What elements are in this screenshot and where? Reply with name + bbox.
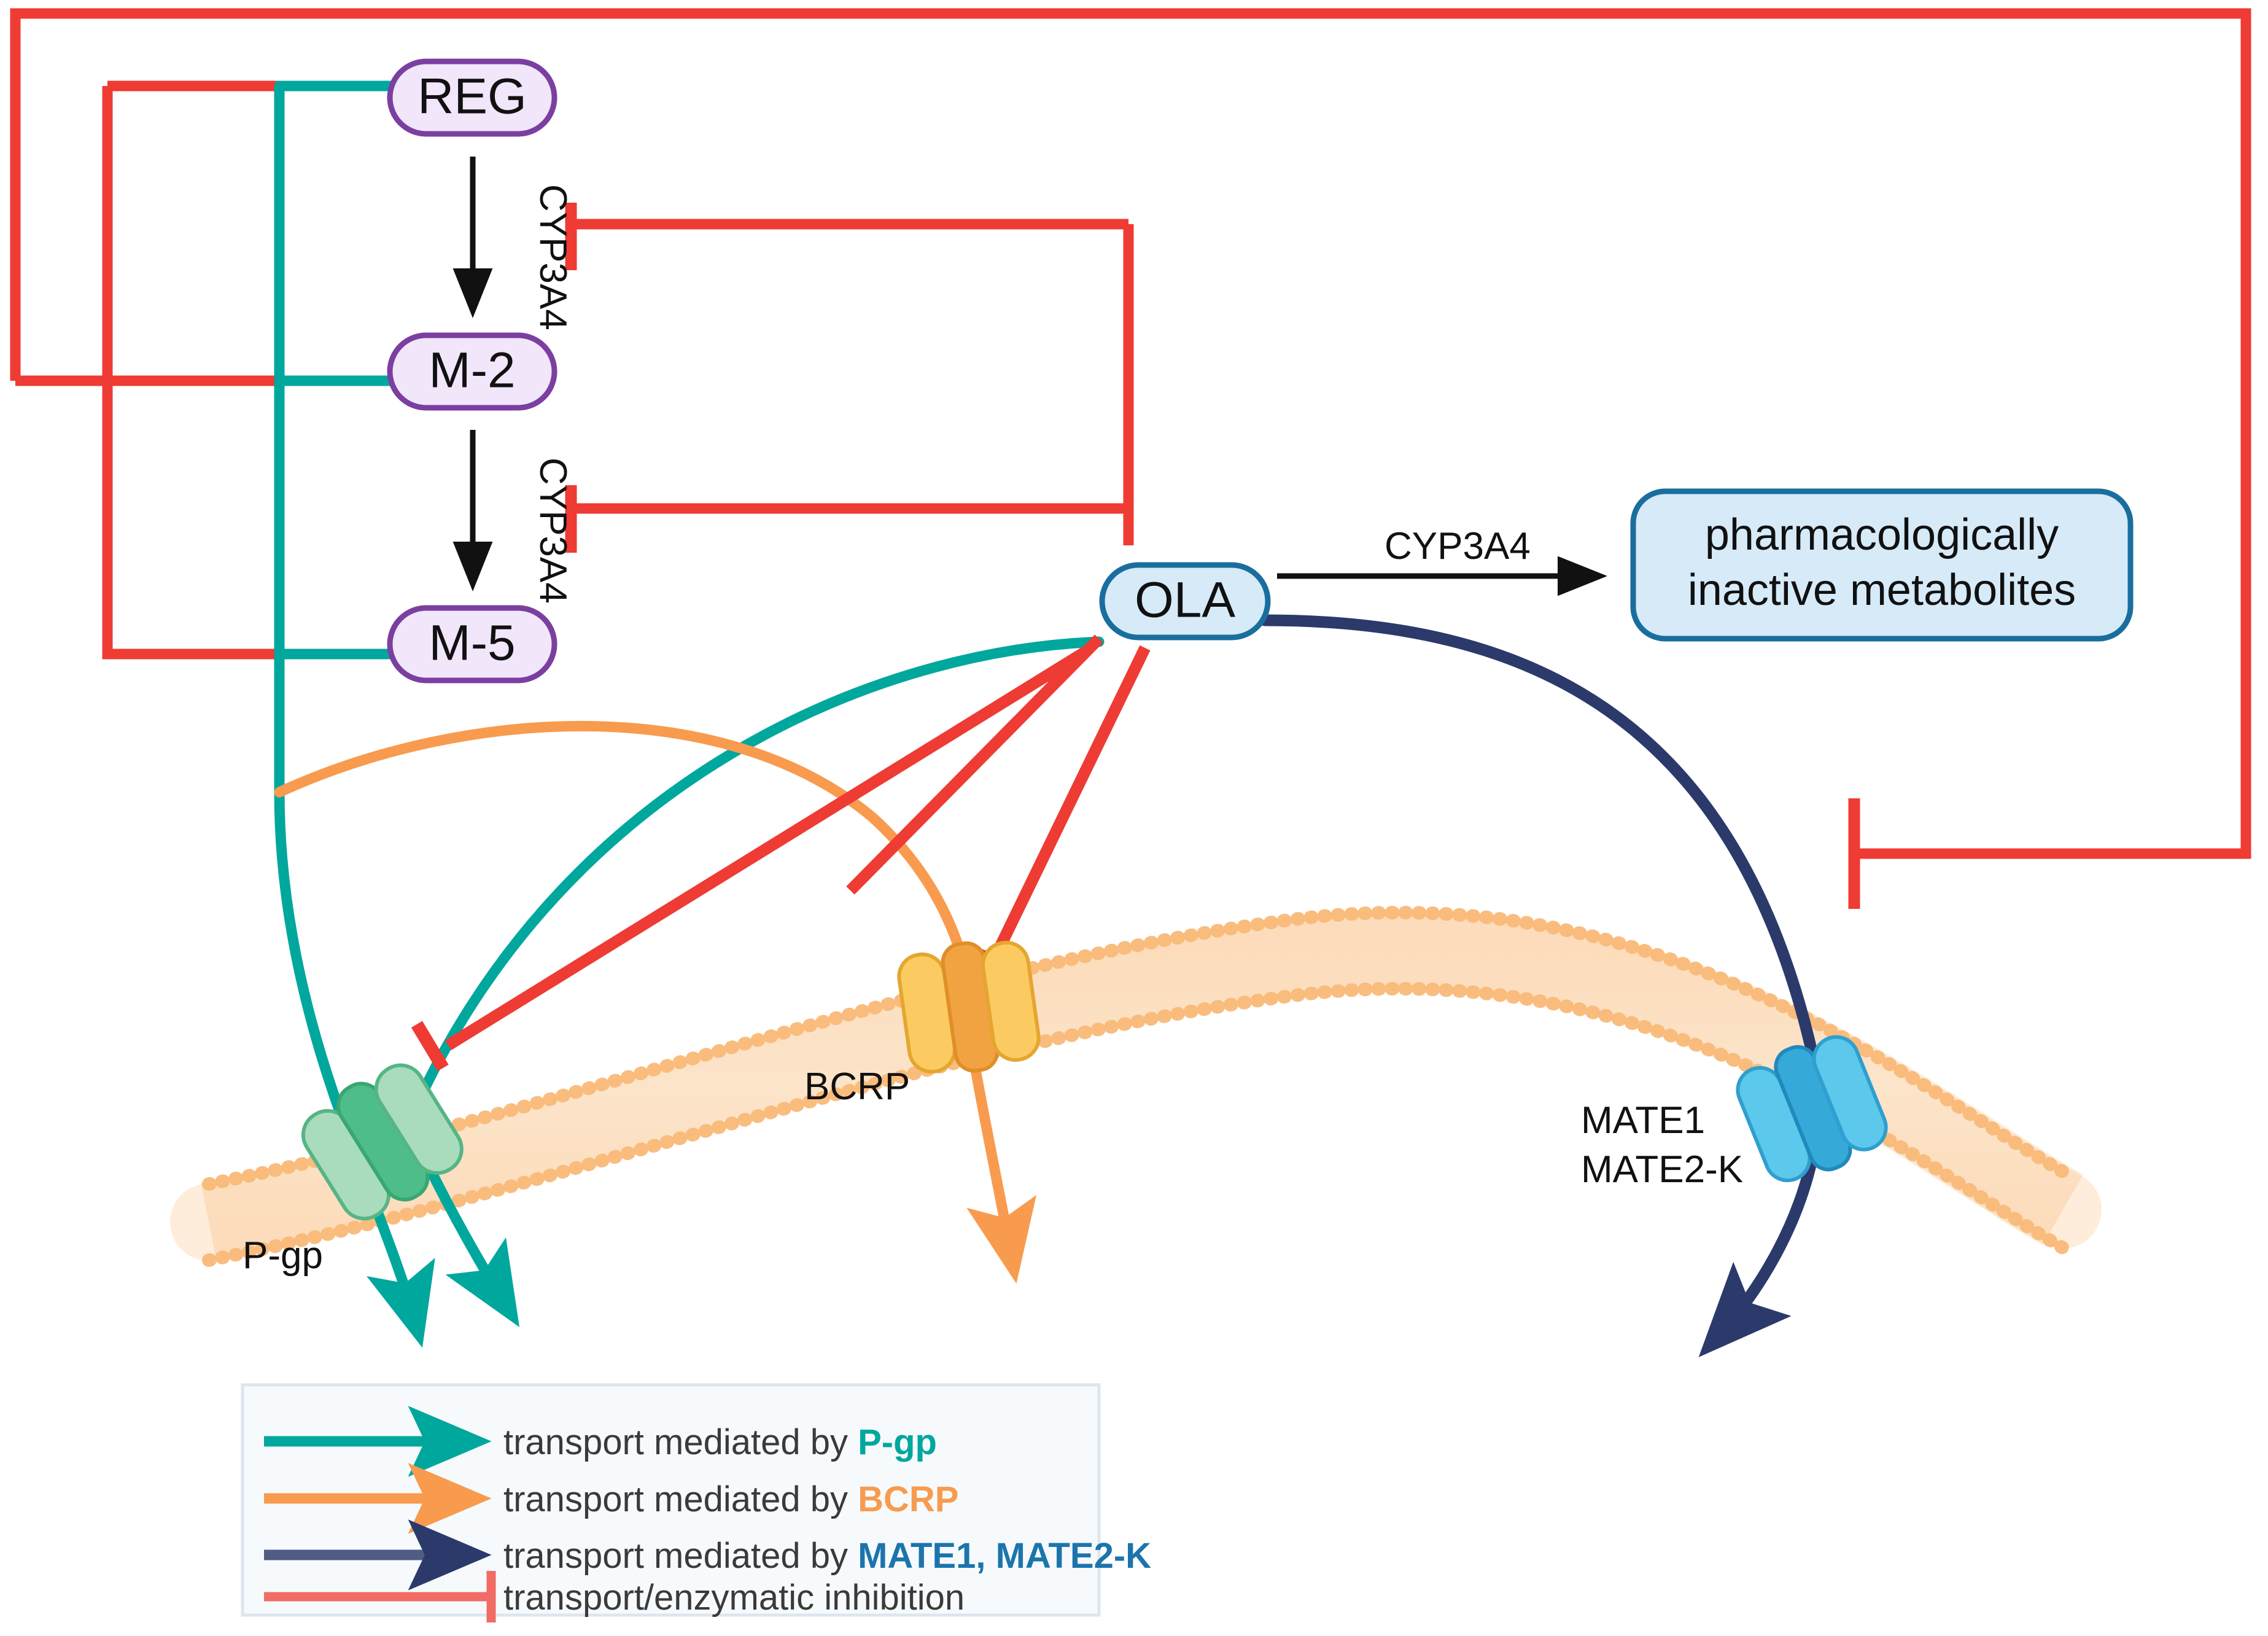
label-bcrp: BCRP [804, 1065, 910, 1108]
diagram-canvas: REG M-2 M-5 OLA pharmacologically inacti… [0, 0, 2268, 1636]
inhibition-cyp3a4-block [571, 203, 1128, 553]
pgp-trunk-to-transporter [279, 86, 359, 1164]
bcrp-transporter [896, 935, 1043, 1079]
node-m2-label: M-2 [429, 343, 515, 399]
node-m5[interactable]: M-5 [390, 608, 554, 680]
node-ola-label: OLA [1135, 572, 1235, 628]
label-p-gp: P-gp [243, 1234, 323, 1277]
enzyme-label-cyp3a4-ola: CYP3A4 [1384, 525, 1531, 567]
node-reg-label: REG [417, 69, 527, 125]
inhibition-path-middle [107, 86, 279, 654]
node-ola[interactable]: OLA [1102, 565, 1268, 637]
node-inactive-metabolites[interactable]: pharmacologically inactive metabolites [1633, 491, 2130, 639]
metabolites-label-line1: pharmacologically [1705, 510, 2059, 559]
legend: transport mediated by P-gp transport med… [243, 1385, 1151, 1622]
legend-label-mate: transport mediated by MATE1, MATE2-K [503, 1536, 1151, 1576]
metabolites-label-line2: inactive metabolites [1688, 566, 2076, 615]
node-m5-label: M-5 [429, 615, 515, 671]
node-m2[interactable]: M-2 [390, 335, 554, 408]
label-mate1: MATE1 [1581, 1099, 1705, 1142]
legend-label-pgp: transport mediated by P-gp [503, 1422, 937, 1462]
node-reg[interactable]: REG [390, 61, 554, 134]
label-mate2k: MATE2-K [1581, 1148, 1743, 1191]
inhibition-tee-pgp [417, 1024, 443, 1068]
legend-label-bcrp: transport mediated by BCRP [503, 1479, 958, 1519]
legend-label-inhibition: transport/enzymatic inhibition [503, 1578, 965, 1618]
enzyme-label-cyp3a4-reg-m2: CYP3A4 [532, 184, 574, 330]
pathway-diagram: REG M-2 M-5 OLA pharmacologically inacti… [0, 0, 2268, 1636]
bcrp-influx-curve [279, 726, 969, 983]
enzyme-label-cyp3a4-m2-m5: CYP3A4 [532, 458, 574, 604]
